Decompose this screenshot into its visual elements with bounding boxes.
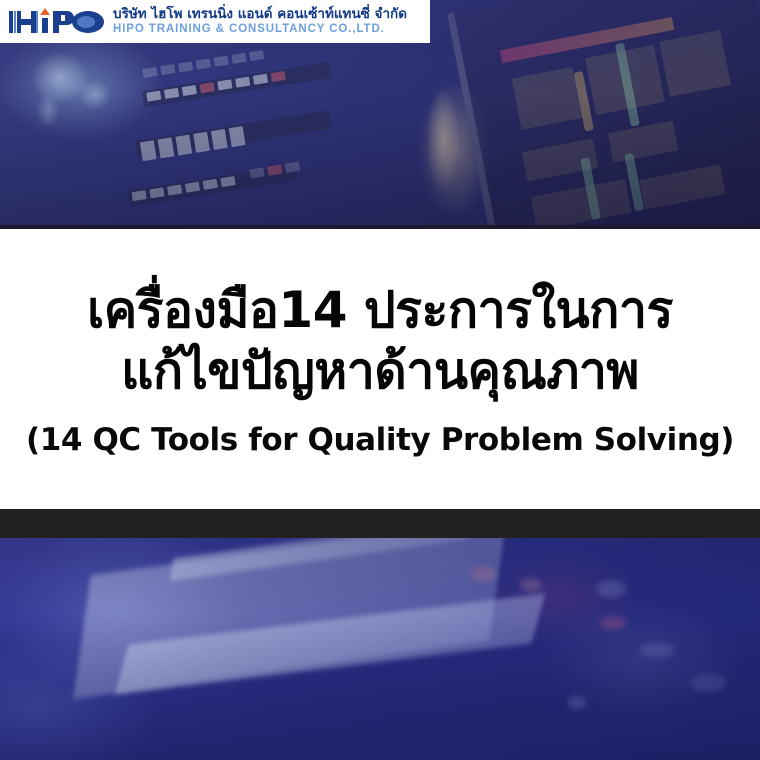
hipo-logo-icon — [8, 7, 106, 37]
title-line-2: แก้ไขปัญหาด้านคุณภาพ — [121, 341, 639, 402]
company-name-th: บริษัท ไฮโพ เทรนนิ่ง แอนด์ คอนเซ้าท์แทนซ… — [113, 8, 407, 22]
company-name-en: HIPO TRAINING & CONSULTANCY CO.,LTD. — [113, 24, 407, 36]
top-banner-image: บริษัท ไฮโพ เทรนนิ่ง แอนด์ คอนเซ้าท์แทนซ… — [0, 0, 760, 229]
logo-box: บริษัท ไฮโพ เทรนนิ่ง แอนด์ คอนเซ้าท์แทนซ… — [0, 0, 430, 43]
bottom-banner-image — [0, 538, 760, 760]
subtitle-english: (14 QC Tools for Quality Problem Solving… — [26, 422, 734, 458]
logo-text-block: บริษัท ไฮโพ เทรนนิ่ง แอนด์ คอนเซ้าท์แทนซ… — [113, 8, 407, 36]
title-line-1: เครื่องมือ14 ประการในการ — [87, 280, 673, 341]
title-band: เครื่องมือ14 ประการในการ แก้ไขปัญหาด้านค… — [0, 229, 760, 509]
dark-divider-bar — [0, 509, 760, 538]
bottom-banner-overlay — [0, 538, 760, 760]
poster-root: บริษัท ไฮโพ เทรนนิ่ง แอนด์ คอนเซ้าท์แทนซ… — [0, 0, 760, 760]
